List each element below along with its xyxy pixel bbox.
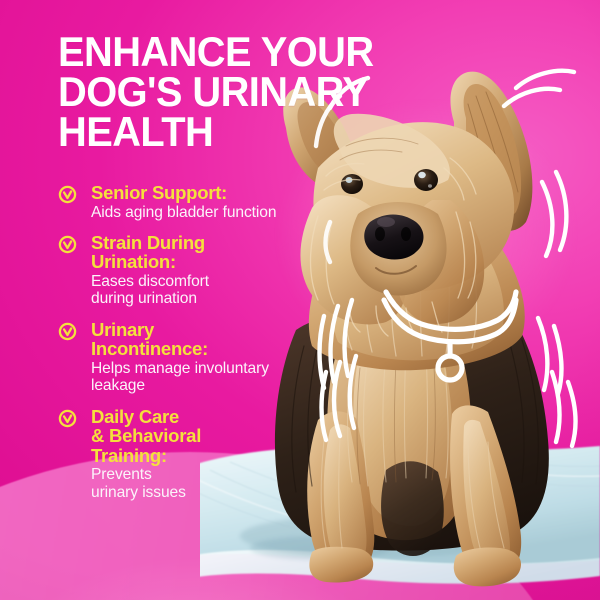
benefit-title: Strain During Urination: bbox=[91, 233, 358, 272]
headline-line-2: DOG'S URINARY bbox=[58, 72, 442, 112]
check-circle-icon bbox=[58, 235, 77, 254]
benefit-list: Senior Support: Aids aging bladder funct… bbox=[58, 183, 358, 501]
benefit-title: Daily Care & Behavioral Training: bbox=[91, 407, 358, 466]
benefit-title: Senior Support: bbox=[91, 183, 358, 203]
headline-line-1: ENHANCE YOUR bbox=[58, 32, 442, 72]
benefit-item-strain-during-urination: Strain During Urination: Eases discomfor… bbox=[58, 233, 358, 308]
benefit-item-urinary-incontinence: Urinary Incontinence: Helps manage invol… bbox=[58, 320, 358, 395]
benefit-description: Helps manage involuntary leakage bbox=[91, 360, 358, 395]
check-circle-icon bbox=[58, 409, 77, 428]
benefit-description: Aids aging bladder function bbox=[91, 204, 358, 221]
headline: ENHANCE YOUR DOG'S URINARY HEALTH bbox=[58, 32, 442, 152]
benefit-item-daily-care-behavioral-training: Daily Care & Behavioral Training: Preven… bbox=[58, 407, 358, 501]
check-circle-icon bbox=[58, 185, 77, 204]
benefit-item-senior-support: Senior Support: Aids aging bladder funct… bbox=[58, 183, 358, 221]
poster-canvas: ENHANCE YOUR DOG'S URINARY HEALTH Senior… bbox=[0, 0, 600, 600]
benefit-description: Prevents urinary issues bbox=[91, 466, 358, 501]
benefit-title: Urinary Incontinence: bbox=[91, 320, 358, 359]
benefit-description: Eases discomfort during urination bbox=[91, 273, 358, 308]
headline-line-3: HEALTH bbox=[58, 112, 442, 152]
check-circle-icon bbox=[58, 322, 77, 341]
